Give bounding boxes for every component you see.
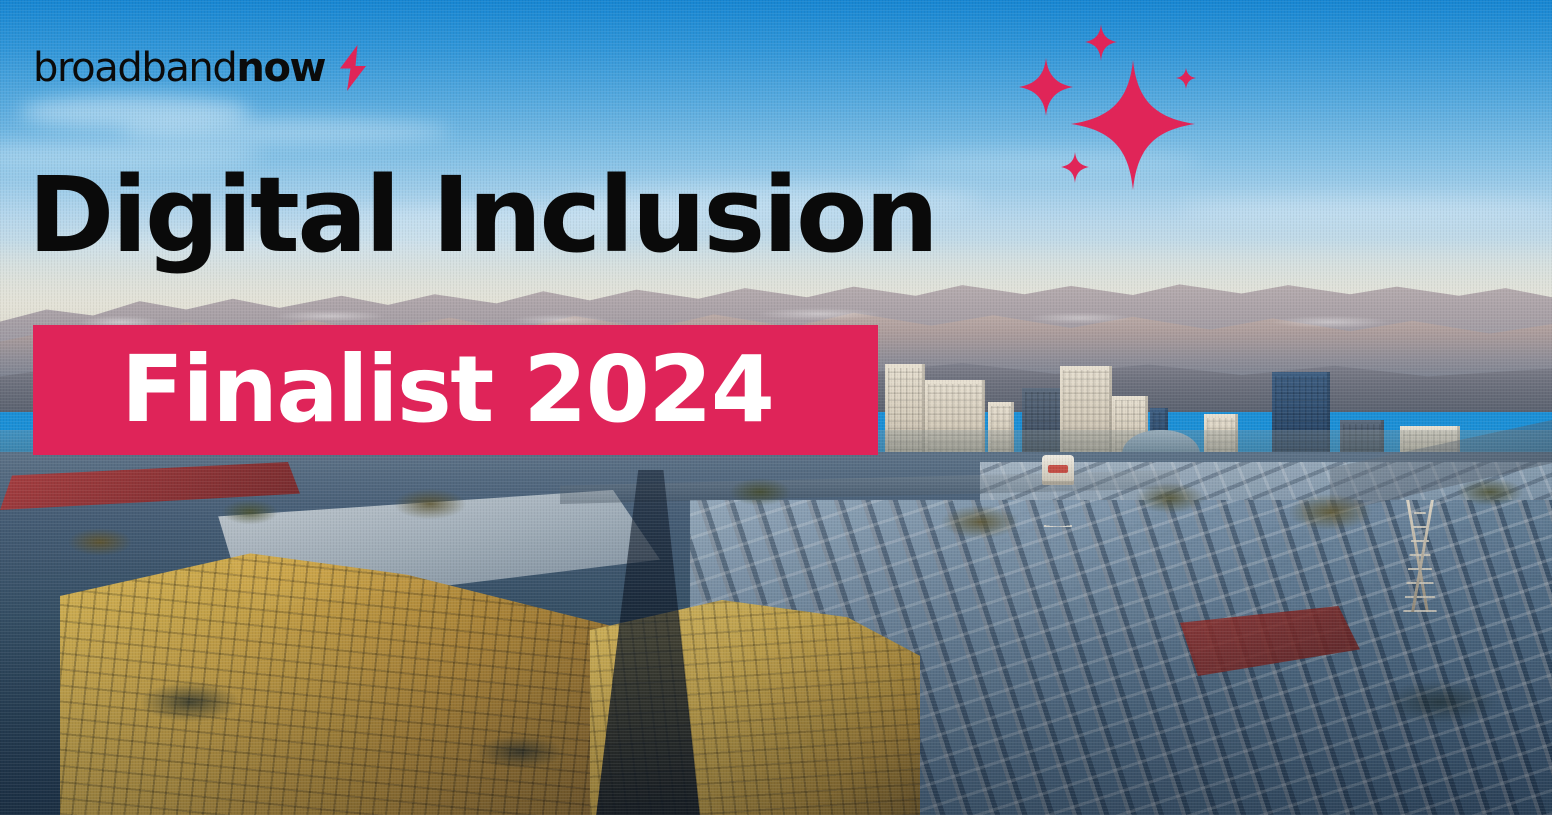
four-point-sparkle-icon [1015, 18, 1245, 198]
transmission-tower [1398, 500, 1442, 612]
award-ribbon-label: Finalist 2024 [33, 344, 773, 436]
page-title: Digital Inclusion [28, 163, 936, 267]
water-tower [1040, 455, 1076, 527]
sparkle-decoration [1015, 18, 1245, 198]
lightning-bolt-icon [335, 45, 371, 91]
cloud [120, 118, 450, 144]
promotional-banner: broadbandnow Digital Inclusion Finalist … [0, 0, 1552, 815]
cloud [1180, 196, 1552, 222]
transmission-tower-lattice [1398, 500, 1442, 612]
logo-wordmark: broadbandnow [33, 48, 325, 88]
logo-word-now: now [236, 45, 325, 91]
water-tower-legs [1044, 485, 1072, 527]
award-ribbon: Finalist 2024 [33, 325, 878, 455]
broadbandnow-logo[interactable]: broadbandnow [33, 45, 371, 91]
logo-word-broadband: broadband [33, 45, 236, 91]
water-tower-tank [1042, 455, 1074, 485]
